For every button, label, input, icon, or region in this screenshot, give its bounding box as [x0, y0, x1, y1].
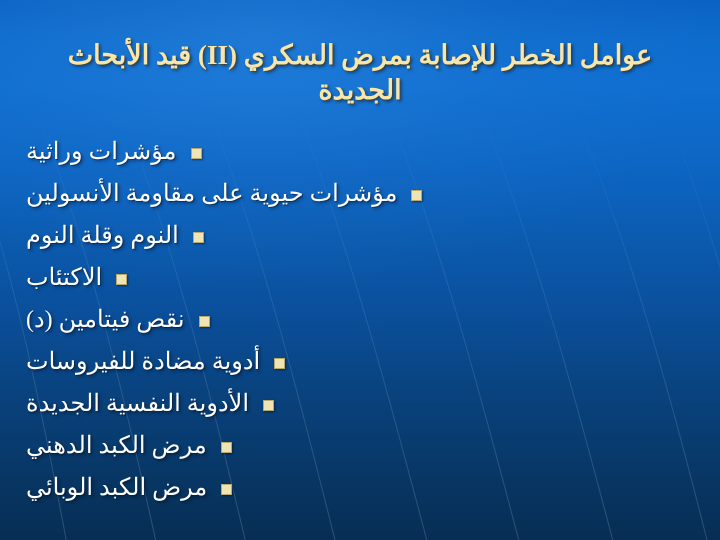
square-bullet-icon	[221, 442, 232, 453]
list-item: الاكتئاب	[26, 258, 694, 300]
bullet-list: مؤشرات وراثية مؤشرات حيوية على مقاومة ال…	[26, 132, 694, 510]
slide-title-line-1: عوامل الخطر للإصابة بمرض السكري (II) قيد…	[52, 38, 668, 73]
list-item-label: نقص فيتامين (د)	[26, 308, 185, 333]
list-item-label: مرض الكبد الوبائي	[26, 476, 207, 501]
list-item-label: مؤشرات وراثية	[26, 140, 177, 165]
square-bullet-icon	[221, 484, 232, 495]
list-item-label: أدوية مضادة للفيروسات	[26, 350, 260, 375]
presentation-slide: عوامل الخطر للإصابة بمرض السكري (II) قيد…	[0, 0, 720, 540]
list-item-label: الأدوية النفسية الجديدة	[26, 392, 249, 417]
list-item: مرض الكبد الوبائي	[26, 468, 694, 510]
list-item-label: الاكتئاب	[26, 266, 102, 291]
square-bullet-icon	[191, 148, 202, 159]
square-bullet-icon	[193, 232, 204, 243]
list-item: نقص فيتامين (د)	[26, 300, 694, 342]
list-item: النوم وقلة النوم	[26, 216, 694, 258]
list-item: مؤشرات وراثية	[26, 132, 694, 174]
slide-title: عوامل الخطر للإصابة بمرض السكري (II) قيد…	[52, 38, 668, 107]
slide-title-line-2: الجديدة	[52, 73, 668, 108]
list-item-label: النوم وقلة النوم	[26, 224, 179, 249]
list-item: مرض الكبد الدهني	[26, 426, 694, 468]
list-item: أدوية مضادة للفيروسات	[26, 342, 694, 384]
square-bullet-icon	[263, 400, 274, 411]
list-item-label: مؤشرات حيوية على مقاومة الأنسولين	[26, 182, 397, 207]
square-bullet-icon	[116, 274, 127, 285]
list-item: الأدوية النفسية الجديدة	[26, 384, 694, 426]
list-item: مؤشرات حيوية على مقاومة الأنسولين	[26, 174, 694, 216]
square-bullet-icon	[411, 190, 422, 201]
list-item-label: مرض الكبد الدهني	[26, 434, 207, 459]
slide-content: عوامل الخطر للإصابة بمرض السكري (II) قيد…	[0, 0, 720, 540]
square-bullet-icon	[199, 316, 210, 327]
square-bullet-icon	[274, 358, 285, 369]
